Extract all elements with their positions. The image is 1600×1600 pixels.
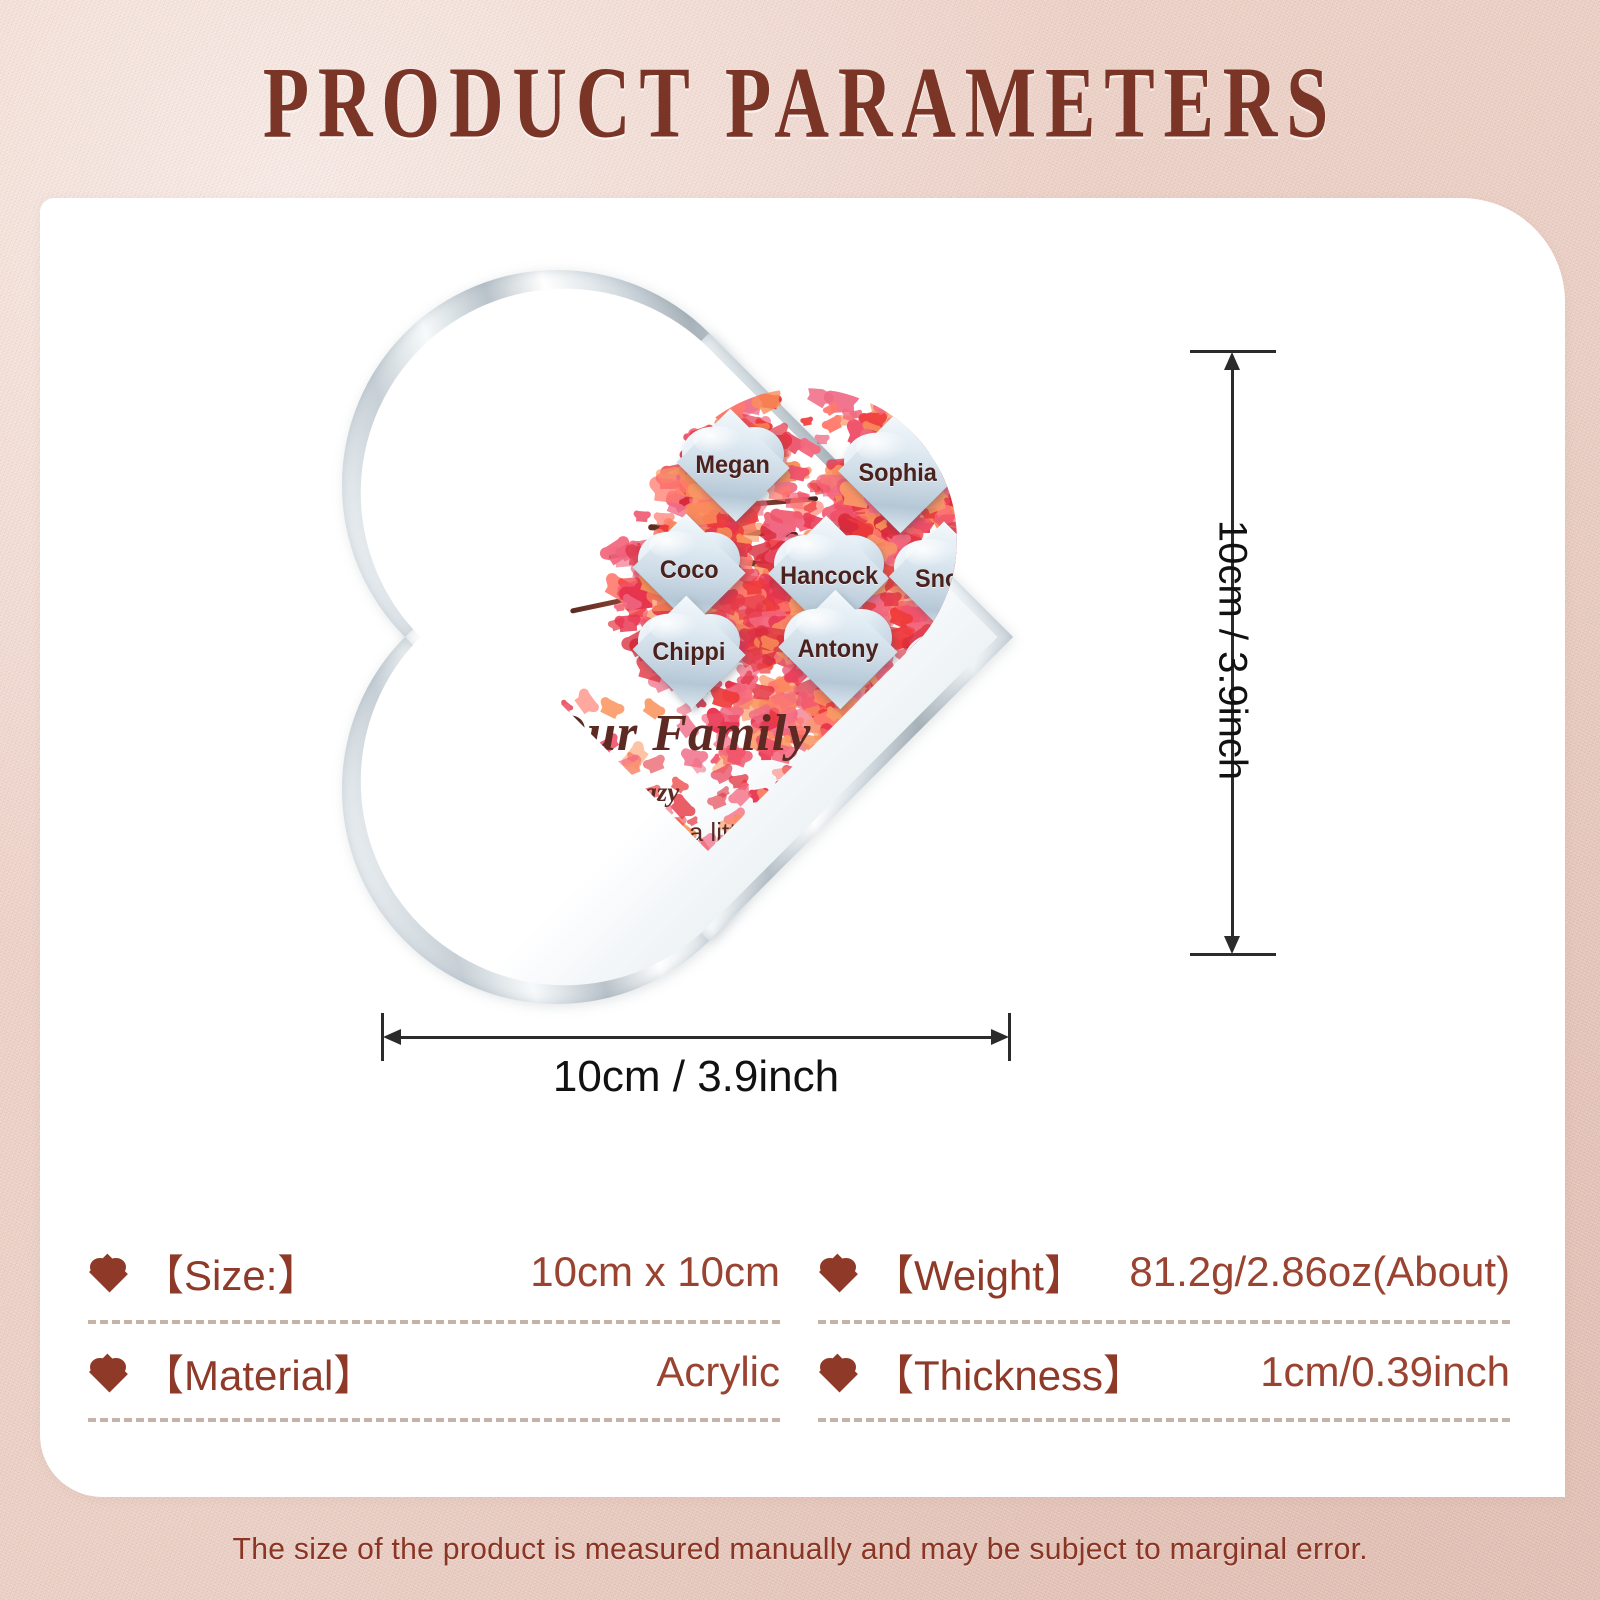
leaf-icon <box>998 492 1018 511</box>
leaf-icon <box>802 416 812 425</box>
leaf-icon <box>931 714 948 730</box>
leaf-icon <box>980 415 1001 435</box>
leaf-icon <box>892 761 906 775</box>
petal-icon <box>841 829 850 838</box>
leaf-icon <box>917 754 931 768</box>
leaf-icon <box>971 700 986 714</box>
leaf-icon <box>1014 465 1030 492</box>
leaf-icon <box>988 688 1020 719</box>
spec-row-weight: 【Weight】 81.2g/2.86oz(About) <box>818 1222 1518 1322</box>
petal-icon <box>799 894 811 906</box>
name-heart-megan: Megan <box>674 411 792 519</box>
petal-icon <box>857 873 867 882</box>
leaf-icon <box>875 399 891 414</box>
petal-icon <box>939 871 960 892</box>
heart-icon <box>88 1254 128 1290</box>
leaf-icon <box>985 574 1009 597</box>
leaf-icon <box>974 691 988 704</box>
leaf-icon <box>1002 558 1012 567</box>
leaf-icon <box>1017 507 1030 530</box>
petal-icon <box>910 863 925 878</box>
leaf-icon <box>1025 499 1030 520</box>
petal-icon <box>891 838 906 853</box>
petal-icon <box>881 807 898 824</box>
petal-icon <box>1008 902 1019 913</box>
leaf-icon <box>918 787 944 812</box>
petal-icon <box>782 906 804 929</box>
leaf-icon <box>979 716 989 726</box>
petal-icon <box>858 844 873 859</box>
leaf-icon <box>858 369 891 401</box>
leaf-icon <box>956 771 971 785</box>
leaf-icon <box>965 535 987 557</box>
petal-icon <box>997 807 1015 824</box>
leaf-icon <box>966 499 987 519</box>
leaf-icon <box>954 457 978 480</box>
petal-icon <box>981 746 1007 772</box>
leaf-icon <box>968 781 991 802</box>
leaf-icon <box>869 368 898 396</box>
leaf-icon <box>923 416 947 439</box>
petal-icon <box>944 866 964 886</box>
footer-bar: The size of the product is measured manu… <box>0 1498 1600 1600</box>
leaf-icon <box>991 757 1009 775</box>
leaf-icon <box>956 515 969 528</box>
leaf-icon <box>790 466 807 482</box>
leaf-icon <box>949 473 960 484</box>
leaf-icon <box>995 550 1012 567</box>
leaf-icon <box>1004 601 1022 618</box>
petal-icon <box>910 751 929 770</box>
leaf-icon <box>988 714 1007 732</box>
petal-icon <box>852 819 866 833</box>
petal-icon <box>903 798 923 818</box>
petal-icon <box>960 842 980 862</box>
petal-icon <box>1003 912 1012 920</box>
leaf-icon <box>954 416 974 435</box>
arrowhead-right-icon <box>991 1029 1009 1045</box>
leaf-icon <box>995 412 1015 432</box>
leaf-icon <box>979 413 998 431</box>
petal-icon <box>884 832 907 854</box>
spec-value: 81.2g/2.86oz(About) <box>1129 1248 1510 1296</box>
petal-icon <box>960 858 978 876</box>
leaf-icon <box>964 416 982 433</box>
leaf-icon <box>746 580 762 595</box>
petal-icon <box>991 758 1015 782</box>
petal-icon <box>852 800 861 808</box>
leaf-icon <box>989 577 1012 598</box>
petal-icon <box>907 826 927 846</box>
leaf-icon <box>949 408 976 434</box>
petal-icon <box>958 738 971 751</box>
spec-key: 【Thickness】 <box>872 1342 1145 1403</box>
leaf-icon <box>961 398 973 409</box>
leaf-icon <box>1010 676 1027 692</box>
leaf-icon <box>898 379 915 395</box>
leaf-icon <box>932 727 941 735</box>
leaf-icon <box>998 471 1022 495</box>
leaf-icon <box>1003 542 1018 556</box>
spec-key: 【Material】 <box>142 1342 375 1403</box>
petal-icon <box>1020 854 1030 870</box>
heart-icon <box>818 1254 858 1290</box>
leaf-icon <box>984 535 994 545</box>
leaf-icon <box>1017 560 1030 588</box>
name-heart-label: Aaron <box>929 802 997 831</box>
leaf-icon <box>947 459 976 486</box>
petal-icon <box>1001 747 1020 766</box>
name-heart-label: Chippi <box>652 638 725 667</box>
petal-icon <box>923 844 933 853</box>
leaf-icon <box>976 463 993 480</box>
name-heart-label: Antony <box>798 635 879 664</box>
petal-icon <box>947 858 967 879</box>
leaf-icon <box>950 722 977 748</box>
arrowhead-up-icon <box>1224 352 1240 370</box>
petal-icon <box>998 837 1019 857</box>
leaf-icon <box>978 582 1002 605</box>
leaf-icon <box>980 442 1010 471</box>
petal-icon <box>992 708 1007 722</box>
leaf-icon <box>983 412 1001 429</box>
acrylic-heart-plaque: Our Family a little bit of Crazy a littl… <box>378 336 1030 1000</box>
leaf-icon <box>825 402 838 415</box>
leaf-icon <box>876 788 886 797</box>
leaf-icon <box>953 567 965 579</box>
petal-icon <box>925 819 942 836</box>
leaf-icon <box>982 680 1001 698</box>
petal-icon <box>865 838 874 847</box>
leaf-icon <box>1011 468 1027 483</box>
leaf-icon <box>983 733 994 743</box>
dimension-line-horizontal <box>387 1036 1004 1039</box>
petal-icon <box>971 745 983 757</box>
leaf-icon <box>979 555 990 565</box>
leaf-icon <box>1012 471 1030 489</box>
leaf-icon <box>952 490 982 519</box>
leaf-icon <box>979 498 1006 523</box>
leaf-icon <box>975 422 986 433</box>
name-heart-label: Snow <box>915 565 978 594</box>
leaf-icon <box>906 795 922 810</box>
leaf-icon <box>1010 493 1026 508</box>
dimension-height-label: 10cm / 3.9inch <box>1210 520 1255 780</box>
leaf-icon <box>968 725 982 738</box>
heart-icon <box>88 1354 128 1390</box>
leaf-icon <box>1026 593 1030 606</box>
leaf-icon <box>970 750 985 764</box>
petal-icon <box>869 850 889 869</box>
leaf-icon <box>914 401 936 422</box>
leaf-icon <box>967 717 985 735</box>
leaf-icon <box>1007 569 1019 581</box>
leaf-icon <box>1006 578 1020 591</box>
leaf-icon <box>950 481 976 505</box>
leaf-icon <box>1011 440 1030 462</box>
leaf-icon <box>997 721 1023 746</box>
spec-row-thickness: 【Thickness】 1cm/0.39inch <box>818 1322 1518 1422</box>
leaf-icon <box>990 595 1009 613</box>
petal-icon <box>881 774 893 786</box>
spec-key: 【Weight】 <box>872 1242 1086 1303</box>
leaf-icon <box>953 397 965 409</box>
leaf-icon <box>989 581 1012 602</box>
leaf-icon <box>971 533 991 552</box>
leaf-icon <box>963 541 984 561</box>
leaf-icon <box>1010 668 1030 692</box>
leaf-icon <box>931 438 948 455</box>
row-divider <box>818 1418 1510 1422</box>
name-heart-sophia: Sophia <box>836 416 960 530</box>
leaf-icon <box>984 478 1015 508</box>
spec-key: 【Size:】 <box>142 1242 319 1303</box>
spec-value: Acrylic <box>656 1348 780 1396</box>
petal-icon <box>940 733 962 755</box>
leaf-icon <box>952 410 975 431</box>
footer-note: The size of the product is measured manu… <box>232 1531 1367 1567</box>
leaf-icon <box>943 412 968 435</box>
spec-value: 10cm x 10cm <box>530 1248 780 1296</box>
petal-icon <box>973 883 994 905</box>
leaf-icon <box>909 753 923 766</box>
leaf-icon <box>954 402 982 429</box>
leaf-icon <box>976 499 995 517</box>
leaf-icon <box>1005 681 1030 705</box>
petal-icon <box>970 819 986 835</box>
petal-icon <box>899 824 912 837</box>
leaf-icon <box>900 399 926 423</box>
petal-icon <box>862 835 879 852</box>
petal-icon <box>969 825 987 842</box>
row-divider <box>88 1418 780 1422</box>
leaf-icon <box>999 595 1023 618</box>
petal-icon <box>960 729 971 740</box>
arrowhead-down-icon <box>1224 936 1240 954</box>
leaf-icon <box>951 740 981 769</box>
leaf-icon <box>968 525 983 540</box>
petal-icon <box>898 922 914 937</box>
leaf-icon <box>953 536 984 566</box>
page-title: PRODUCT PARAMETERS <box>96 48 1504 157</box>
leaf-icon <box>952 482 976 505</box>
leaf-icon <box>957 775 969 786</box>
name-heart-chippi: Chippi <box>630 598 748 706</box>
leaf-icon <box>955 491 972 508</box>
leaf-icon <box>979 475 1002 497</box>
leaf-icon <box>990 579 1007 596</box>
leaf-icon <box>1025 480 1030 497</box>
heart-icon <box>818 1354 858 1390</box>
leaf-icon <box>937 743 955 760</box>
leaf-icon <box>976 569 992 585</box>
leaf-icon <box>986 410 1013 435</box>
name-heart-label: Coco <box>660 556 719 585</box>
leaf-icon <box>995 593 1019 616</box>
leaf-icon <box>1010 455 1024 469</box>
leaf-icon <box>977 534 993 549</box>
leaf-icon <box>990 586 1017 613</box>
spec-value: 1cm/0.39inch <box>1260 1348 1510 1396</box>
leaf-icon <box>935 409 958 431</box>
petal-icon <box>865 813 879 827</box>
arrowhead-left-icon <box>383 1029 401 1045</box>
leaf-icon <box>958 481 977 500</box>
leaf-icon <box>998 598 1008 608</box>
leaf-icon <box>960 526 978 543</box>
leaf-icon <box>1006 486 1027 506</box>
leaf-icon <box>925 727 952 752</box>
spec-table: 【Size:】 10cm x 10cm 【Weight】 81.2g/2.86o… <box>88 1222 1518 1422</box>
leaf-icon <box>1016 583 1030 607</box>
leaf-icon <box>917 775 946 803</box>
name-heart-label: Sophia <box>859 459 937 488</box>
petal-icon <box>882 907 899 923</box>
leaf-icon <box>955 552 985 582</box>
petal-icon <box>969 757 981 768</box>
leaf-icon <box>817 434 827 443</box>
leaf-icon <box>1013 511 1026 523</box>
leaf-icon <box>988 412 1010 433</box>
leaf-icon <box>957 784 971 798</box>
petal-icon <box>820 882 832 893</box>
petal-icon <box>819 869 827 877</box>
leaf-icon <box>1001 451 1011 460</box>
name-heart-label: Megan <box>696 451 770 480</box>
leaf-icon <box>799 439 818 458</box>
leaf-icon <box>1027 516 1030 541</box>
leaf-icon <box>873 376 885 387</box>
leaf-icon <box>955 782 970 796</box>
leaf-icon <box>967 484 981 498</box>
petal-icon <box>895 877 904 886</box>
leaf-icon <box>971 522 982 532</box>
leaf-icon <box>1019 456 1030 470</box>
leaf-icon <box>1010 445 1029 463</box>
leaf-icon <box>994 486 1007 499</box>
petal-icon <box>894 806 912 824</box>
leaf-icon <box>987 468 1013 493</box>
petal-icon <box>874 896 898 921</box>
leaf-icon <box>979 545 993 558</box>
leaf-icon <box>1000 720 1022 741</box>
leaf-icon <box>891 382 908 398</box>
leaf-icon <box>985 438 1006 458</box>
leaf-icon <box>981 756 1008 781</box>
petal-icon <box>924 826 934 836</box>
leaf-icon <box>1007 554 1018 564</box>
petal-icon <box>921 925 934 938</box>
name-heart-label: Hancock <box>780 562 878 591</box>
leaf-icon <box>953 505 965 516</box>
leaf-icon <box>977 683 1005 710</box>
petal-icon <box>929 885 951 907</box>
leaf-icon <box>989 664 999 673</box>
leaf-icon <box>963 542 979 557</box>
leaf-icon <box>807 384 831 407</box>
leaf-icon <box>971 532 1005 565</box>
spec-row-size: 【Size:】 10cm x 10cm <box>88 1222 788 1322</box>
leaf-icon <box>887 767 903 782</box>
leaf-icon <box>985 730 1005 750</box>
petal-icon <box>912 865 930 883</box>
leaf-icon <box>949 702 973 724</box>
leaf-icon <box>975 486 1002 512</box>
petal-icon <box>931 717 943 729</box>
leaf-icon <box>920 410 943 432</box>
petal-icon <box>895 799 907 811</box>
spec-row-material: 【Material】 Acrylic <box>88 1322 788 1422</box>
petal-icon <box>927 719 941 732</box>
leaf-icon <box>943 724 955 736</box>
leaf-icon <box>966 411 991 435</box>
petal-icon <box>1013 726 1027 739</box>
leaf-icon <box>998 527 1014 543</box>
petal-icon <box>974 926 991 942</box>
dimension-width-label: 10cm / 3.9inch <box>382 1052 1010 1102</box>
name-heart-aaron: Aaron <box>902 760 1024 872</box>
petal-icon <box>922 878 940 895</box>
leaf-icon <box>972 473 992 492</box>
leaf-icon <box>908 751 921 763</box>
leaf-icon <box>983 688 1004 708</box>
leaf-icon <box>936 417 956 436</box>
leaf-icon <box>900 746 924 769</box>
leaf-icon <box>1020 599 1030 621</box>
petal-icon <box>806 895 830 919</box>
product-image: Our Family a little bit of Crazy a littl… <box>378 336 1030 1000</box>
leaf-icon <box>1024 574 1030 598</box>
leaf-icon <box>955 493 985 522</box>
